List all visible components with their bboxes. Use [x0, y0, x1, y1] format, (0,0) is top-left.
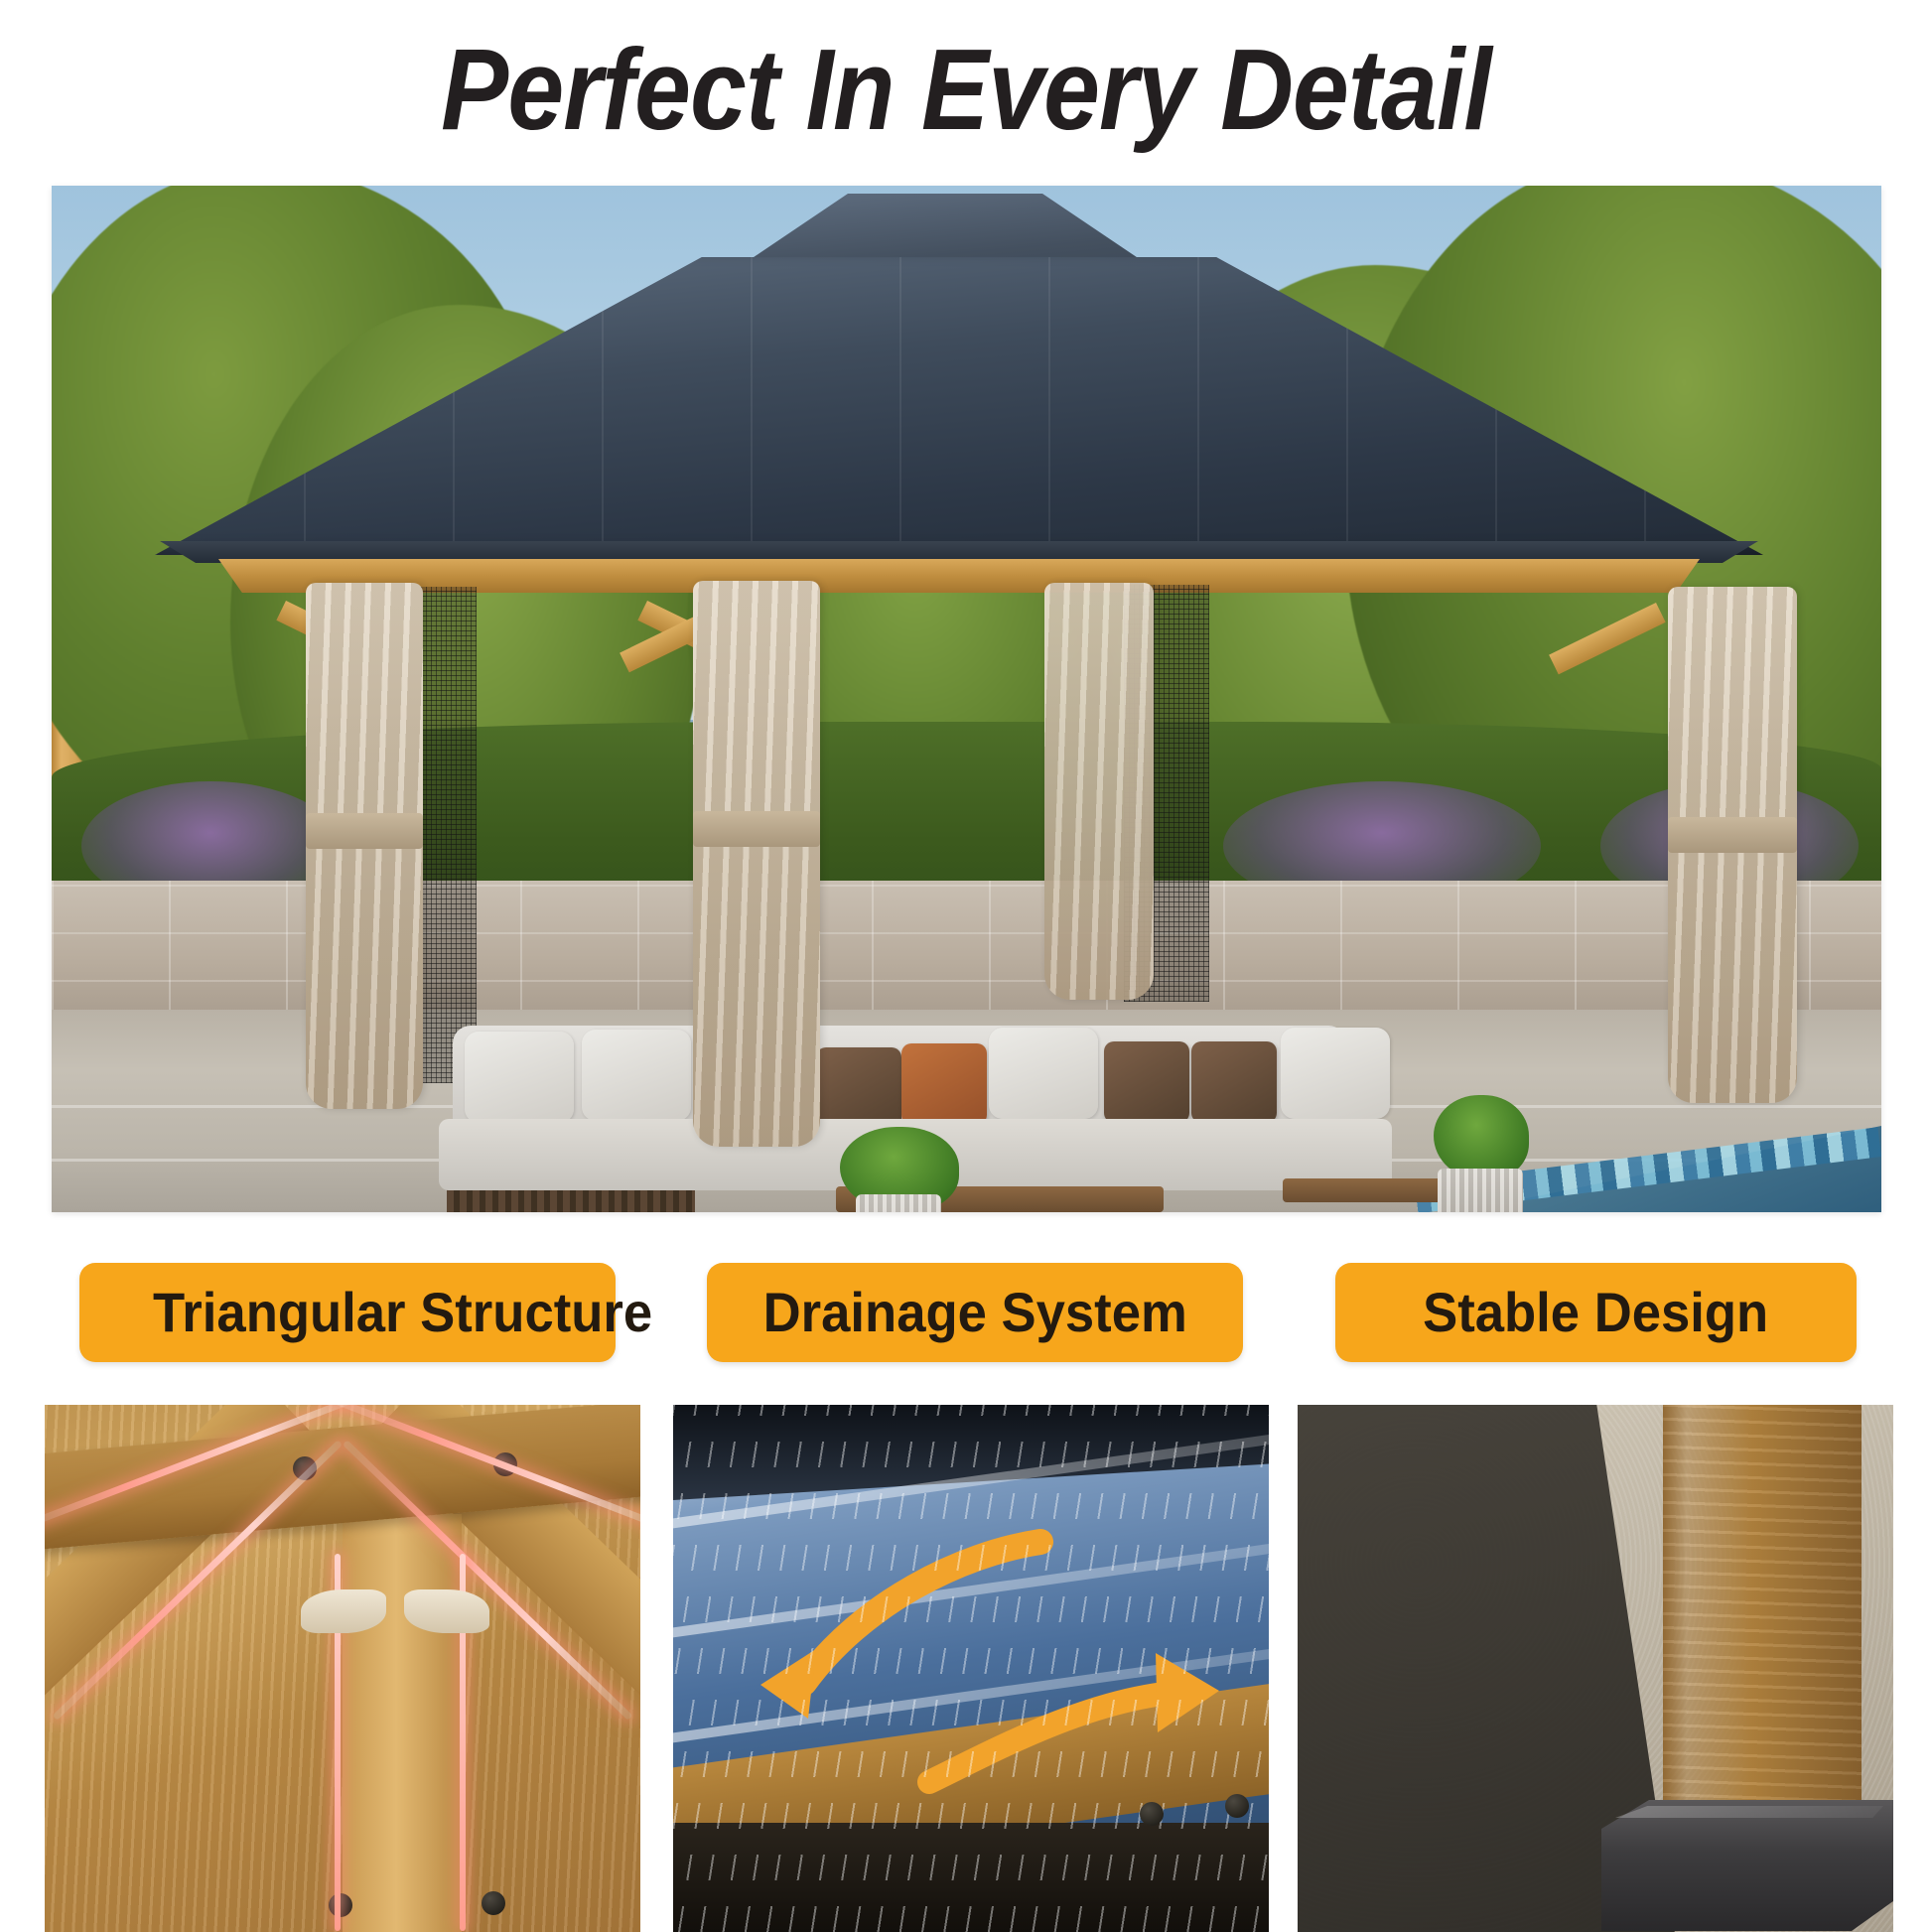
privacy-curtain [693, 581, 820, 1147]
planter-pot [1438, 1169, 1523, 1212]
accent-pillow [816, 1047, 901, 1129]
feature-badge-row: Triangular Structure Drainage System Sta… [0, 1263, 1932, 1362]
sofa-cushion [989, 1028, 1098, 1119]
stable-design-photo [1298, 1405, 1893, 1932]
curtain-tieback [1668, 817, 1797, 853]
badge-label: Triangular Structure [153, 1285, 652, 1340]
rainfall-overlay [673, 1405, 1269, 1932]
badge-label: Drainage System [762, 1285, 1186, 1340]
sofa-cushion [1281, 1028, 1390, 1119]
planter-pot [856, 1194, 941, 1212]
bolt-head [1140, 1802, 1164, 1826]
accent-pillow [1104, 1041, 1189, 1123]
bolt-head [1225, 1794, 1249, 1818]
feature-badge-drainage-system[interactable]: Drainage System [707, 1263, 1243, 1362]
accent-pillow [1191, 1041, 1277, 1123]
drainage-system-photo [673, 1405, 1269, 1932]
feature-badge-triangular-structure[interactable]: Triangular Structure [79, 1263, 616, 1362]
bolt-head [329, 1893, 352, 1917]
bolt-head [482, 1891, 505, 1915]
curtain-tieback [306, 813, 423, 849]
post-base-plate [1601, 1800, 1893, 1931]
gazebo-post [1663, 1405, 1862, 1852]
sofa-cushion [582, 1030, 691, 1121]
gazebo-hero-photo [52, 186, 1881, 1212]
triangular-structure-photo [45, 1405, 640, 1932]
page-title: Perfect In Every Detail [441, 32, 1491, 155]
privacy-curtain [1044, 583, 1154, 1000]
base-plate-highlight [1615, 1806, 1883, 1818]
vertical-post [343, 1514, 462, 1932]
sofa-cushion [465, 1032, 574, 1123]
wood-grain [1663, 1405, 1862, 1852]
curtain-tie-bow [301, 1589, 489, 1635]
feature-badge-stable-design[interactable]: Stable Design [1335, 1263, 1857, 1362]
headline-bar: Perfect In Every Detail [0, 0, 1932, 186]
accent-pillow [901, 1043, 987, 1125]
badge-label: Stable Design [1423, 1285, 1768, 1340]
feature-panel-row [0, 1405, 1932, 1932]
curtain-tieback [693, 811, 820, 847]
